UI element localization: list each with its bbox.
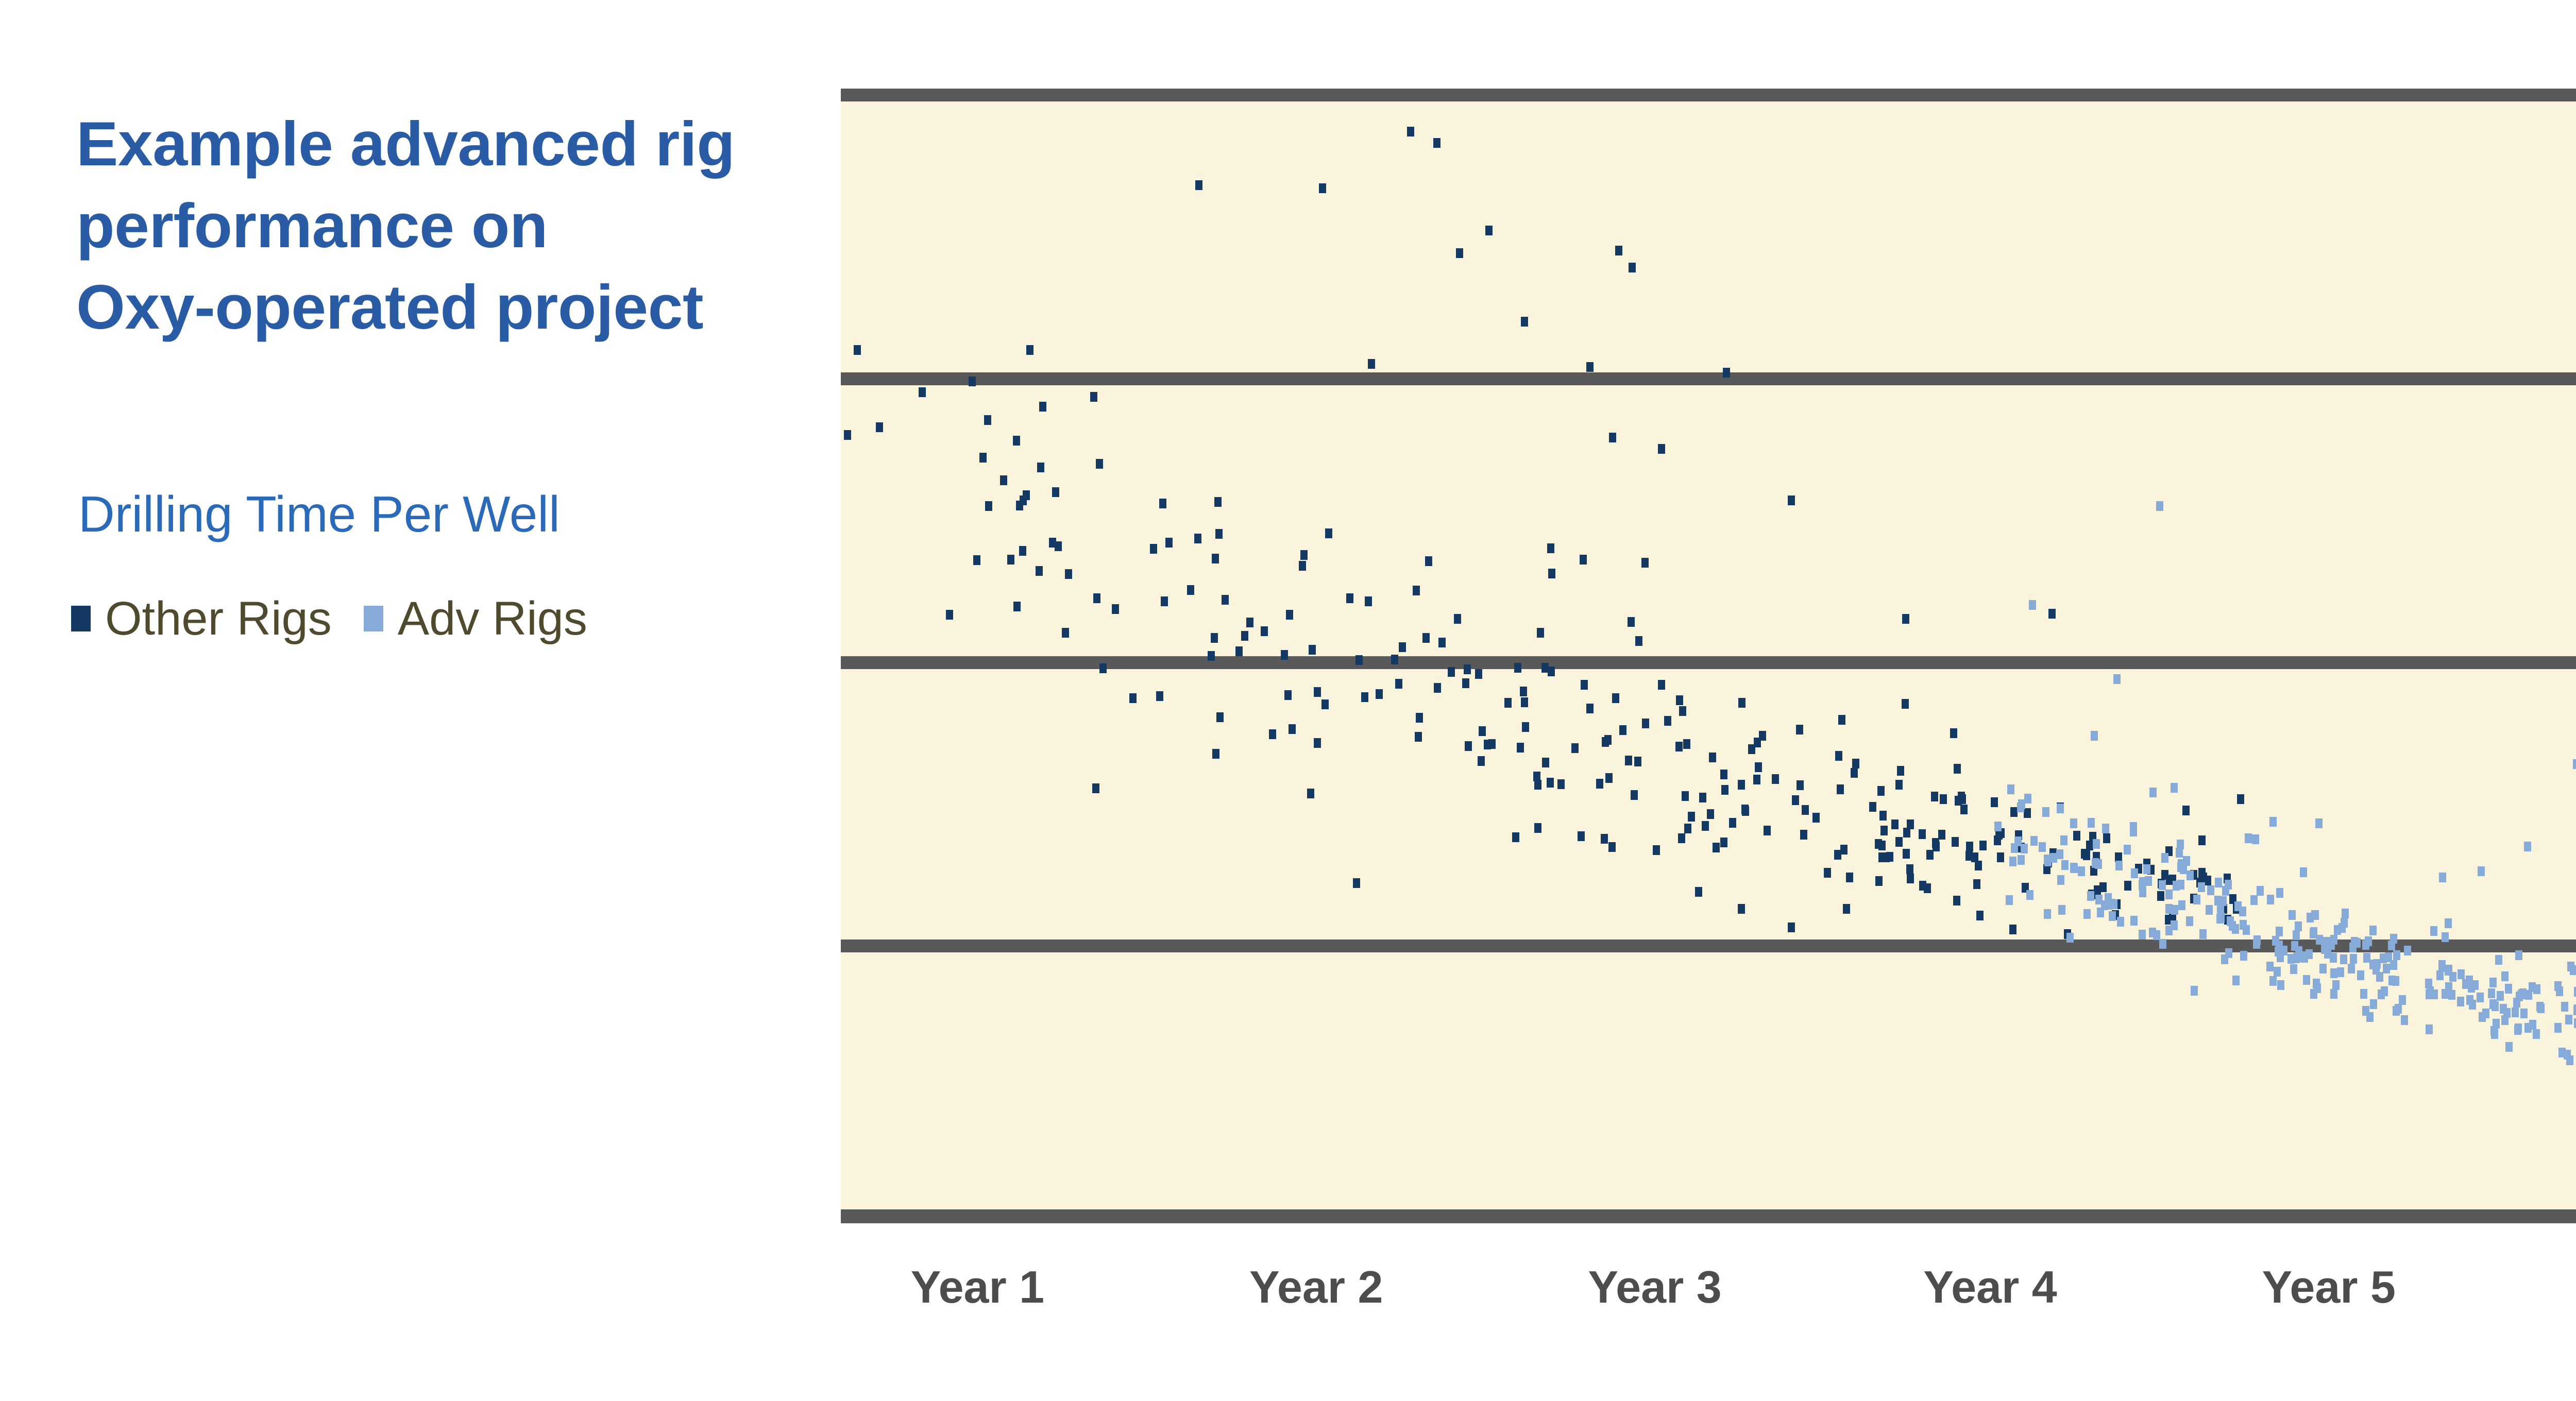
- data-point-adv-rigs: [2520, 1009, 2528, 1018]
- data-point-other-rigs: [1838, 715, 1845, 725]
- legend-swatch-square-icon: [71, 606, 91, 631]
- data-point-other-rigs: [1879, 811, 1887, 821]
- data-point-adv-rigs: [2095, 859, 2102, 869]
- data-point-other-rigs: [1020, 496, 1027, 505]
- data-point-adv-rigs: [2177, 880, 2184, 890]
- data-point-adv-rigs: [2187, 870, 2194, 880]
- data-point-other-rigs: [1284, 690, 1292, 700]
- data-point-other-rigs: [1764, 826, 1771, 835]
- data-point-other-rigs: [1465, 741, 1472, 751]
- data-point-other-rigs: [1609, 433, 1616, 442]
- data-point-adv-rigs: [2445, 982, 2452, 992]
- data-point-adv-rigs: [2108, 899, 2115, 909]
- data-point-adv-rigs: [2466, 995, 2473, 1005]
- data-point-other-rigs: [1903, 849, 1910, 859]
- data-point-other-rigs: [1878, 852, 1886, 862]
- data-point-adv-rigs: [2442, 932, 2449, 942]
- data-point-adv-rigs: [2011, 843, 2018, 853]
- data-point-other-rigs: [1319, 183, 1326, 193]
- data-point-adv-rigs: [2161, 853, 2168, 863]
- data-point-other-rigs: [1742, 806, 1749, 816]
- data-point-other-rigs: [1891, 819, 1899, 829]
- data-point-other-rigs: [1679, 706, 1686, 716]
- data-point-adv-rigs: [2007, 784, 2014, 794]
- data-point-other-rigs: [1325, 528, 1332, 538]
- data-point-adv-rigs: [2066, 933, 2074, 943]
- data-point-other-rigs: [1395, 679, 1402, 689]
- data-point-other-rigs: [1608, 842, 1616, 852]
- data-point-other-rigs: [1802, 805, 1809, 815]
- data-point-other-rigs: [1958, 792, 1965, 801]
- data-point-other-rigs: [1517, 743, 1524, 753]
- data-point-adv-rigs: [2030, 836, 2038, 846]
- data-point-adv-rigs: [2574, 1018, 2576, 1028]
- data-point-other-rigs: [2010, 807, 2018, 817]
- data-point-other-rigs: [1792, 795, 1799, 805]
- data-point-adv-rigs: [2024, 794, 2031, 804]
- data-point-other-rigs: [1346, 593, 1353, 603]
- legend-label-adv-rigs: Adv Rigs: [398, 595, 587, 642]
- gridline: [841, 372, 2576, 385]
- data-point-other-rigs: [1361, 692, 1368, 702]
- data-point-other-rigs: [1834, 850, 1841, 860]
- data-point-other-rigs: [1547, 778, 1554, 788]
- data-point-adv-rigs: [2515, 950, 2522, 960]
- data-point-other-rigs: [1548, 667, 1555, 676]
- data-point-other-rigs: [1212, 749, 1219, 759]
- data-point-other-rigs: [1479, 726, 1486, 736]
- data-point-other-rigs: [1214, 497, 1222, 507]
- data-point-adv-rigs: [2478, 866, 2485, 876]
- x-axis-label-year-4: Year 4: [1923, 1265, 2057, 1310]
- data-point-adv-rigs: [2330, 968, 2337, 978]
- data-point-adv-rigs: [2177, 862, 2184, 872]
- data-point-adv-rigs: [2245, 833, 2252, 843]
- data-point-other-rigs: [1960, 805, 1968, 814]
- data-point-other-rigs: [1261, 626, 1268, 636]
- data-point-adv-rigs: [2017, 802, 2024, 812]
- data-point-other-rigs: [1720, 770, 1727, 779]
- data-point-adv-rigs: [2078, 866, 2085, 876]
- data-point-adv-rigs: [2232, 924, 2239, 934]
- data-point-other-rigs: [1601, 834, 1608, 844]
- data-point-other-rigs: [1246, 618, 1253, 627]
- data-point-other-rigs: [1605, 773, 1613, 783]
- data-point-other-rigs: [1788, 496, 1795, 505]
- data-point-adv-rigs: [2156, 501, 2163, 511]
- data-point-adv-rigs: [2131, 868, 2138, 878]
- data-point-adv-rigs: [2071, 863, 2078, 873]
- data-point-other-rigs: [1997, 852, 2004, 862]
- data-point-other-rigs: [1425, 556, 1432, 566]
- data-point-adv-rigs: [2139, 877, 2146, 887]
- data-point-adv-rigs: [2366, 1012, 2374, 1022]
- data-point-adv-rigs: [1994, 822, 2002, 831]
- data-point-other-rigs: [1812, 813, 1820, 823]
- data-point-other-rigs: [2237, 794, 2244, 804]
- data-point-other-rigs: [1161, 596, 1168, 606]
- data-point-other-rigs: [1976, 911, 1984, 920]
- data-point-other-rigs: [1036, 566, 1043, 576]
- data-point-other-rigs: [1625, 756, 1632, 765]
- data-point-adv-rigs: [2057, 804, 2064, 813]
- data-point-other-rigs: [1488, 739, 1496, 749]
- data-point-other-rigs: [1542, 758, 1549, 767]
- data-point-other-rigs: [1664, 716, 1671, 726]
- data-point-other-rigs: [1309, 645, 1316, 655]
- data-point-adv-rigs: [2505, 984, 2512, 994]
- data-point-other-rigs: [1797, 780, 1804, 790]
- data-point-other-rigs: [1709, 753, 1716, 762]
- data-point-adv-rigs: [2088, 818, 2095, 828]
- data-point-adv-rigs: [2430, 926, 2437, 936]
- data-point-other-rigs: [1707, 809, 1714, 819]
- data-point-adv-rigs: [2401, 1015, 2408, 1025]
- data-point-adv-rigs: [2124, 845, 2131, 855]
- data-point-adv-rigs: [2252, 834, 2259, 844]
- data-point-other-rigs: [1504, 698, 1512, 708]
- data-point-adv-rigs: [2554, 1023, 2562, 1033]
- data-point-other-rigs: [1738, 780, 1745, 790]
- data-point-other-rigs: [1702, 821, 1709, 831]
- x-axis-line: [841, 1209, 2576, 1223]
- data-point-adv-rigs: [2376, 972, 2383, 982]
- data-point-adv-rigs: [2369, 960, 2377, 969]
- data-point-adv-rigs: [2561, 1002, 2568, 1012]
- data-point-other-rigs: [1090, 392, 1097, 402]
- data-point-adv-rigs: [2093, 839, 2100, 849]
- data-point-other-rigs: [1723, 368, 1730, 378]
- data-point-other-rigs: [1415, 732, 1422, 742]
- data-point-adv-rigs: [2087, 891, 2094, 901]
- data-point-other-rigs: [1039, 402, 1046, 412]
- x-axis-label-year-1: Year 1: [911, 1265, 1044, 1310]
- data-point-other-rigs: [1906, 864, 1913, 874]
- data-point-adv-rigs: [2515, 1023, 2522, 1033]
- data-point-other-rigs: [1454, 614, 1461, 624]
- data-point-other-rigs: [1895, 780, 1903, 790]
- data-point-other-rigs: [1658, 680, 1665, 690]
- data-point-adv-rigs: [2056, 849, 2063, 859]
- data-point-other-rigs: [1093, 593, 1100, 603]
- data-point-other-rigs: [1991, 797, 1998, 807]
- data-point-adv-rigs: [2240, 951, 2247, 961]
- data-point-adv-rigs: [2567, 962, 2574, 971]
- data-point-adv-rigs: [2276, 927, 2283, 936]
- data-point-other-rigs: [1869, 802, 1876, 812]
- data-point-adv-rigs: [2177, 840, 2184, 849]
- data-point-other-rigs: [1520, 687, 1527, 696]
- scatter-chart: [841, 89, 2576, 1223]
- data-point-adv-rigs: [2370, 999, 2377, 1009]
- data-point-other-rigs: [1877, 786, 1885, 796]
- data-point-other-rigs: [1683, 739, 1690, 749]
- data-point-adv-rigs: [2198, 882, 2205, 892]
- data-point-adv-rigs: [2342, 909, 2349, 918]
- data-point-adv-rigs: [2518, 989, 2525, 999]
- data-point-adv-rigs: [2393, 950, 2400, 960]
- data-point-adv-rigs: [2274, 967, 2281, 977]
- data-point-other-rigs: [984, 415, 991, 425]
- data-point-other-rigs: [1875, 839, 1882, 849]
- data-point-other-rigs: [1695, 887, 1702, 897]
- data-point-other-rigs: [1000, 475, 1007, 485]
- data-point-other-rigs: [1952, 837, 1959, 847]
- data-point-adv-rigs: [2057, 875, 2064, 885]
- data-point-other-rigs: [1522, 722, 1529, 732]
- data-point-adv-rigs: [2565, 1015, 2572, 1024]
- gridline: [841, 89, 2576, 101]
- data-point-adv-rigs: [2266, 962, 2274, 971]
- data-point-adv-rigs: [2269, 976, 2277, 986]
- data-point-other-rigs: [2099, 882, 2107, 892]
- data-point-adv-rigs: [2491, 1029, 2498, 1039]
- data-point-other-rigs: [979, 453, 987, 463]
- data-point-other-rigs: [1092, 783, 1099, 793]
- data-point-other-rigs: [1399, 642, 1406, 652]
- data-point-other-rigs: [1729, 818, 1736, 828]
- data-point-adv-rigs: [2471, 980, 2479, 990]
- data-point-adv-rigs: [2380, 953, 2387, 963]
- data-point-other-rigs: [1684, 824, 1691, 833]
- data-point-adv-rigs: [2458, 969, 2465, 979]
- data-point-other-rigs: [1065, 569, 1072, 579]
- chart-legend: Other Rigs Adv Rigs: [71, 595, 587, 642]
- data-point-other-rigs: [919, 387, 926, 397]
- data-point-other-rigs: [1641, 558, 1649, 568]
- data-point-adv-rigs: [2462, 979, 2469, 989]
- data-point-other-rigs: [1376, 689, 1383, 699]
- data-point-other-rigs: [1299, 561, 1306, 571]
- data-point-other-rigs: [1950, 728, 1957, 738]
- data-point-other-rigs: [1062, 628, 1069, 638]
- data-point-adv-rigs: [2178, 900, 2185, 910]
- data-point-adv-rigs: [2070, 818, 2077, 828]
- data-point-adv-rigs: [2328, 940, 2335, 950]
- data-point-other-rigs: [1321, 699, 1329, 709]
- data-point-other-rigs: [1755, 762, 1762, 772]
- data-point-other-rigs: [1521, 317, 1528, 327]
- data-point-other-rigs: [1635, 636, 1642, 646]
- data-point-other-rigs: [2198, 835, 2206, 845]
- data-point-adv-rigs: [2524, 842, 2531, 851]
- data-point-other-rigs: [1919, 881, 1926, 891]
- data-point-other-rigs: [1835, 751, 1842, 761]
- data-point-other-rigs: [1846, 873, 1853, 882]
- data-point-adv-rigs: [2337, 967, 2344, 977]
- data-point-adv-rigs: [2039, 842, 2046, 852]
- data-point-other-rigs: [1824, 868, 1831, 878]
- data-point-other-rigs: [1368, 359, 1375, 369]
- data-point-other-rigs: [973, 555, 980, 565]
- data-point-other-rigs: [2157, 891, 2164, 901]
- legend-swatch-square-icon: [364, 606, 383, 631]
- data-point-other-rigs: [1416, 713, 1423, 723]
- data-point-other-rigs: [2048, 609, 2056, 619]
- data-point-other-rigs: [1581, 680, 1588, 690]
- data-point-adv-rigs: [2501, 971, 2509, 981]
- data-point-other-rigs: [1013, 436, 1020, 446]
- data-point-other-rigs: [1586, 362, 1594, 372]
- data-point-adv-rigs: [2334, 925, 2341, 935]
- data-point-other-rigs: [1462, 678, 1469, 688]
- data-point-other-rigs: [1772, 774, 1779, 784]
- data-point-other-rigs: [844, 430, 851, 440]
- data-point-adv-rigs: [2206, 905, 2213, 915]
- data-point-adv-rigs: [2018, 855, 2025, 865]
- data-point-adv-rigs: [2291, 941, 2298, 951]
- data-point-other-rigs: [1534, 823, 1541, 833]
- data-point-other-rigs: [1851, 768, 1858, 778]
- data-point-adv-rigs: [2091, 731, 2098, 741]
- data-point-other-rigs: [1612, 693, 1619, 703]
- data-point-other-rigs: [1713, 843, 1720, 852]
- data-point-other-rigs: [1653, 845, 1660, 855]
- data-point-other-rigs: [2103, 833, 2110, 843]
- data-point-other-rigs: [1875, 876, 1883, 886]
- data-point-adv-rigs: [2191, 986, 2198, 996]
- data-point-adv-rigs: [2253, 939, 2260, 949]
- data-point-other-rigs: [1753, 775, 1760, 784]
- data-point-adv-rigs: [2315, 818, 2323, 828]
- data-point-adv-rigs: [2554, 981, 2562, 991]
- data-point-adv-rigs: [2477, 993, 2484, 1002]
- data-point-adv-rigs: [2294, 952, 2301, 962]
- data-point-adv-rigs: [2117, 917, 2124, 927]
- data-point-other-rigs: [1289, 724, 1296, 734]
- data-point-other-rigs: [1208, 651, 1215, 661]
- data-point-adv-rigs: [2388, 941, 2395, 950]
- data-point-adv-rigs: [2439, 873, 2446, 882]
- data-point-adv-rigs: [2306, 949, 2313, 959]
- data-point-other-rigs: [1738, 698, 1745, 708]
- data-point-adv-rigs: [2497, 991, 2504, 1001]
- data-point-other-rigs: [2161, 870, 2168, 880]
- data-point-other-rigs: [1676, 695, 1683, 705]
- data-point-other-rigs: [1300, 550, 1308, 560]
- data-point-other-rigs: [1353, 878, 1360, 888]
- data-point-other-rigs: [1919, 829, 1926, 839]
- data-point-other-rigs: [1721, 785, 1728, 795]
- data-point-other-rigs: [1852, 759, 1859, 768]
- data-point-adv-rigs: [2295, 921, 2302, 931]
- data-point-other-rigs: [1269, 729, 1276, 739]
- data-point-other-rigs: [2024, 808, 2031, 818]
- data-point-other-rigs: [1578, 831, 1585, 841]
- data-point-adv-rigs: [2021, 844, 2028, 853]
- data-point-other-rigs: [1902, 699, 1909, 709]
- data-point-other-rigs: [1843, 904, 1850, 914]
- data-point-adv-rigs: [2029, 600, 2036, 610]
- data-point-other-rigs: [1194, 534, 1201, 543]
- data-point-other-rigs: [1475, 669, 1482, 679]
- data-point-adv-rigs: [2042, 807, 2049, 817]
- data-point-other-rigs: [1413, 586, 1420, 595]
- data-point-other-rigs: [1931, 792, 1938, 801]
- data-point-other-rigs: [1682, 791, 1689, 801]
- data-point-other-rigs: [1619, 725, 1626, 735]
- data-point-adv-rigs: [2310, 929, 2317, 938]
- data-point-other-rigs: [2182, 806, 2190, 815]
- data-point-adv-rigs: [2313, 979, 2320, 988]
- data-point-other-rigs: [1314, 687, 1321, 697]
- data-point-adv-rigs: [2573, 1005, 2576, 1015]
- data-point-adv-rigs: [2319, 964, 2327, 973]
- data-point-adv-rigs: [2217, 913, 2225, 922]
- data-point-other-rigs: [1926, 850, 1934, 860]
- data-point-other-rigs: [1099, 663, 1107, 673]
- legend-item-adv-rigs[interactable]: Adv Rigs: [364, 595, 587, 642]
- data-point-other-rigs: [1557, 779, 1565, 789]
- data-point-adv-rigs: [2113, 674, 2121, 684]
- data-point-other-rigs: [1433, 138, 1440, 148]
- data-point-adv-rigs: [2573, 759, 2576, 769]
- data-point-adv-rigs: [2353, 938, 2361, 948]
- data-point-other-rigs: [1880, 826, 1888, 835]
- data-point-other-rigs: [1514, 663, 1521, 673]
- data-point-adv-rigs: [2165, 904, 2173, 914]
- data-point-other-rigs: [1534, 780, 1541, 790]
- data-point-adv-rigs: [2425, 979, 2432, 988]
- data-point-adv-rigs: [2378, 989, 2385, 999]
- data-point-adv-rigs: [2060, 835, 2067, 845]
- data-point-adv-rigs: [2115, 861, 2123, 870]
- data-point-other-rigs: [1391, 655, 1398, 664]
- data-point-other-rigs: [2124, 881, 2131, 891]
- data-point-adv-rigs: [2272, 936, 2279, 946]
- data-point-adv-rigs: [2239, 907, 2246, 916]
- data-point-other-rigs: [1241, 631, 1248, 641]
- x-axis-label-year-3: Year 3: [1588, 1265, 1721, 1310]
- data-point-other-rigs: [1796, 725, 1803, 734]
- data-point-adv-rigs: [2311, 910, 2318, 920]
- data-point-other-rigs: [1953, 896, 1960, 905]
- data-point-adv-rigs: [2159, 880, 2166, 890]
- data-point-adv-rigs: [2044, 909, 2051, 919]
- data-point-other-rigs: [1932, 838, 1939, 848]
- data-point-adv-rigs: [2276, 888, 2283, 898]
- data-point-other-rigs: [1150, 544, 1157, 554]
- data-point-other-rigs: [969, 377, 976, 386]
- data-point-adv-rigs: [2566, 1055, 2573, 1065]
- data-point-other-rigs: [1596, 779, 1603, 789]
- data-point-adv-rigs: [2503, 1008, 2511, 1018]
- data-point-adv-rigs: [2350, 954, 2357, 964]
- data-point-other-rigs: [1013, 602, 1021, 611]
- data-point-adv-rigs: [2404, 946, 2411, 955]
- data-point-other-rigs: [1720, 838, 1727, 847]
- data-point-other-rigs: [1365, 596, 1372, 606]
- data-point-adv-rigs: [2221, 954, 2228, 964]
- data-point-adv-rigs: [2390, 960, 2397, 970]
- data-point-other-rigs: [1547, 543, 1554, 553]
- data-point-adv-rigs: [2290, 964, 2297, 974]
- data-point-adv-rigs: [2431, 989, 2438, 999]
- data-point-adv-rigs: [2324, 949, 2331, 959]
- data-point-adv-rigs: [2109, 911, 2116, 921]
- data-point-other-rigs: [1512, 832, 1519, 842]
- data-point-other-rigs: [1007, 555, 1014, 565]
- data-point-adv-rigs: [2061, 860, 2069, 870]
- data-point-adv-rigs: [2095, 895, 2103, 904]
- legend-item-other-rigs[interactable]: Other Rigs: [71, 595, 332, 642]
- x-axis-label-year-2: Year 2: [1249, 1265, 1383, 1310]
- data-point-other-rigs: [1159, 499, 1166, 508]
- data-point-other-rigs: [1212, 554, 1219, 563]
- data-point-adv-rigs: [2457, 997, 2464, 1006]
- data-point-other-rigs: [1994, 835, 2001, 845]
- data-point-adv-rigs: [2445, 918, 2452, 928]
